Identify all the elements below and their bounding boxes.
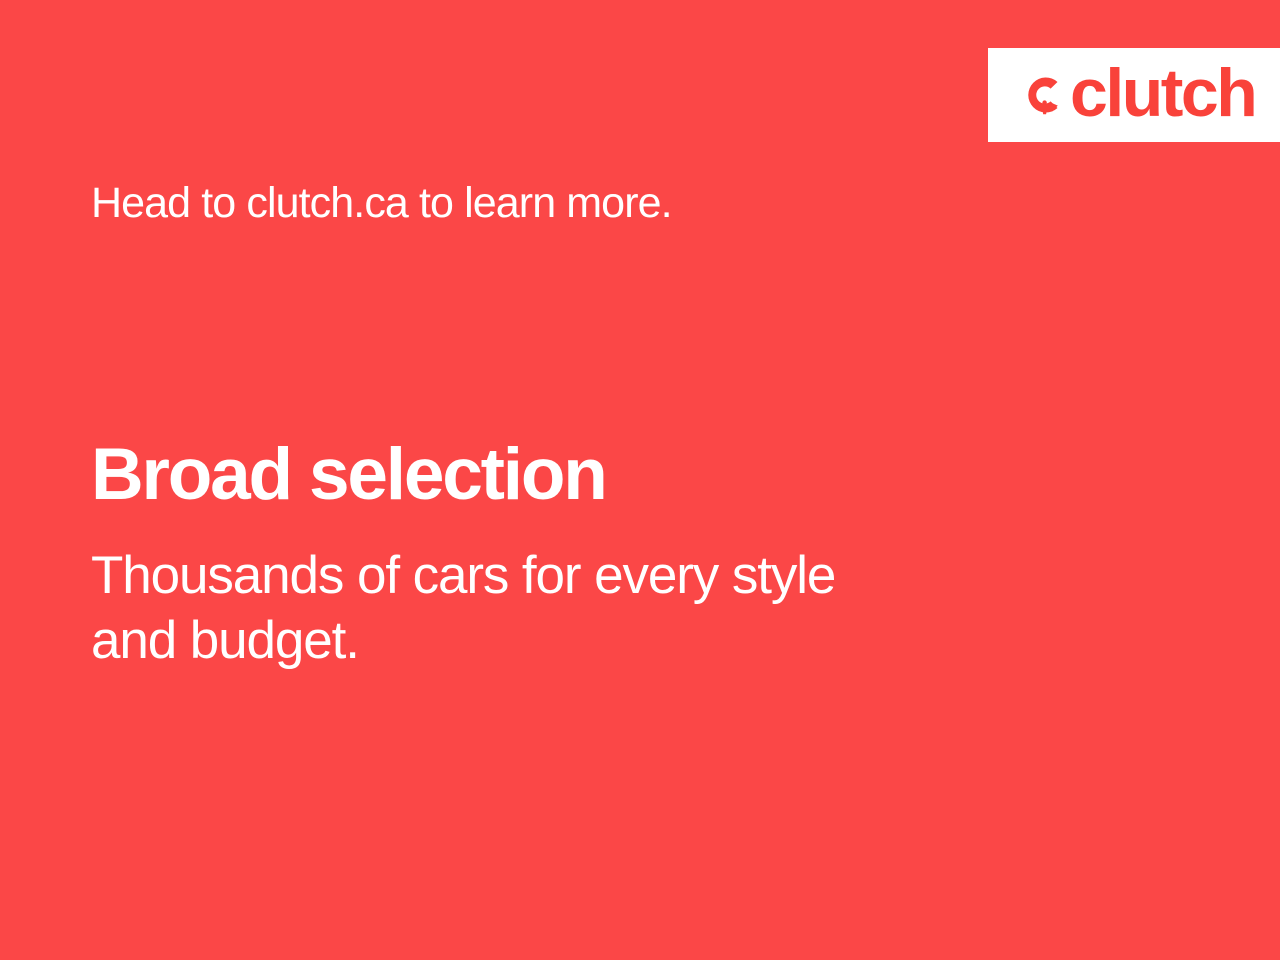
subhead-text: Thousands of cars for every style and bu… bbox=[91, 544, 1051, 673]
subhead-line-1: Thousands of cars for every style bbox=[91, 544, 1051, 609]
promo-slide: clutch Head to clutch.ca to learn more. … bbox=[0, 0, 1280, 960]
clutch-c-car-mark-icon bbox=[1016, 69, 1068, 121]
clutch-wordmark: clutch bbox=[1070, 59, 1255, 127]
brand-logo-plate: clutch bbox=[988, 48, 1280, 142]
clutch-logo-lockup: clutch bbox=[1016, 61, 1255, 129]
eyebrow-text: Head to clutch.ca to learn more. bbox=[91, 180, 672, 227]
page-title: Broad selection bbox=[91, 436, 606, 513]
subhead-line-2: and budget. bbox=[91, 609, 1051, 674]
